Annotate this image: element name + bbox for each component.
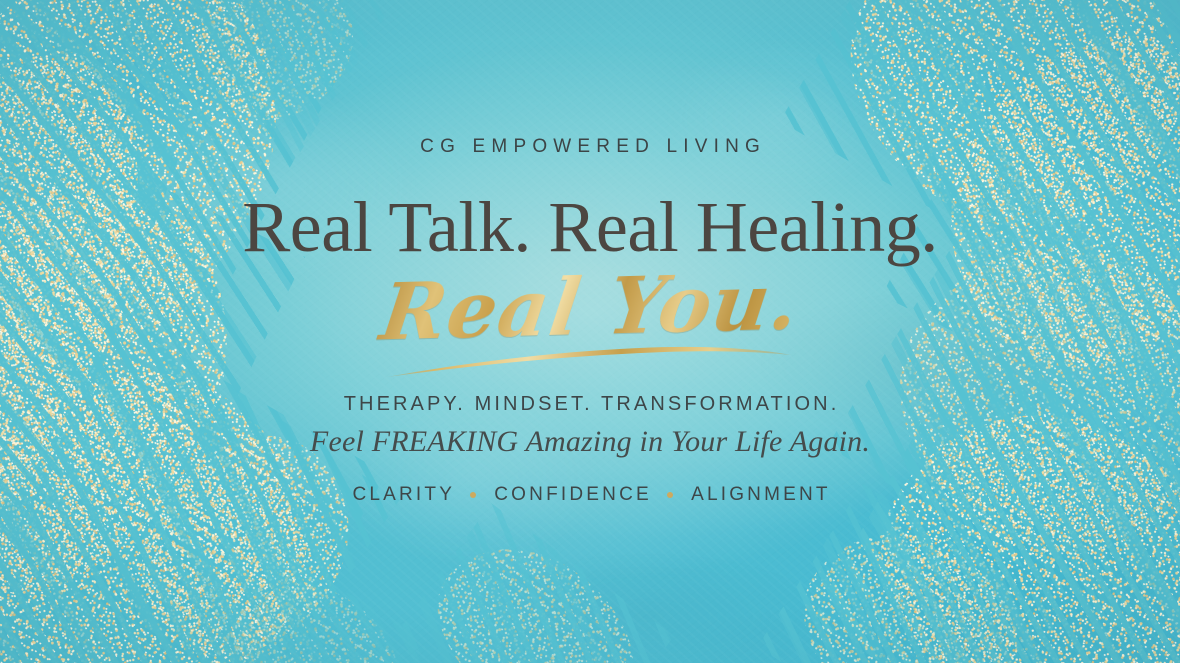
subtitle: Feel FREAKING Amazing in Your Life Again… xyxy=(310,425,870,459)
keyword-label: CLARITY xyxy=(349,484,455,506)
page-title: Real Talk. Real Healing. xyxy=(242,191,937,263)
tagline: THERAPY. MINDSET. TRANSFORMATION. xyxy=(341,393,840,416)
brand-name: CG EMPOWERED LIVING xyxy=(414,136,766,158)
keyword-label: CONFIDENCE xyxy=(491,484,652,506)
gold-swash-underline-icon xyxy=(381,337,801,383)
brand-banner: CG EMPOWERED LIVING Real Talk. Real Heal… xyxy=(0,0,1180,663)
bullet-dot-icon xyxy=(667,492,673,498)
keyword-list: CLARITY CONFIDENCE ALIGNMENT xyxy=(349,484,830,506)
keyword-label: ALIGNMENT xyxy=(688,484,831,506)
banner-content: CG EMPOWERED LIVING Real Talk. Real Heal… xyxy=(0,0,1180,663)
script-accent-group: Real You. xyxy=(375,265,805,385)
bullet-dot-icon xyxy=(470,492,476,498)
